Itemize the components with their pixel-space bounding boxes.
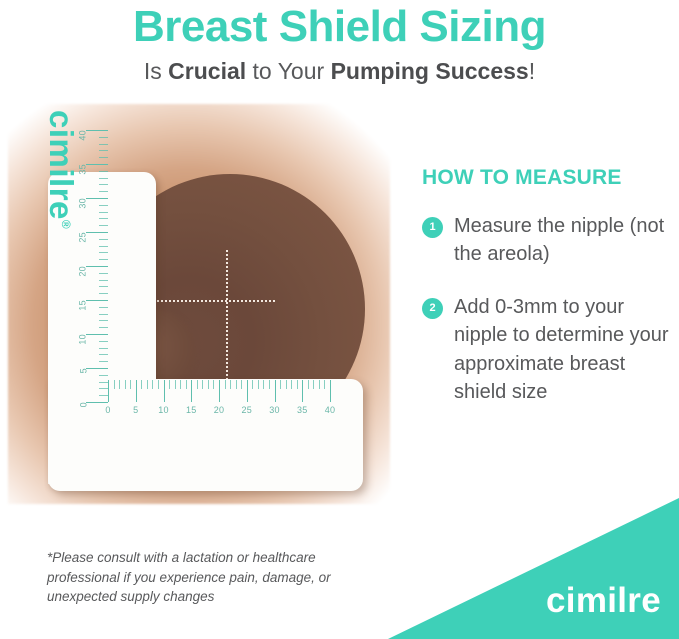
subtitle-part-2: to Your — [246, 58, 330, 84]
ruler-tick-label: 5 — [133, 405, 138, 415]
ruler-tick — [280, 380, 281, 389]
ruler-tick-label: 20 — [78, 266, 88, 277]
vertical-ruler-scale: 0510152025303540 — [56, 104, 108, 416]
ruler-tick — [180, 380, 181, 389]
ruler-tick — [302, 380, 303, 402]
ruler-tick — [99, 252, 108, 253]
ruler-tick-label: 30 — [78, 198, 88, 209]
horizontal-ruler-scale: 0510152025303540 — [108, 380, 338, 428]
ruler-tick — [99, 348, 108, 349]
measure-step-1: 1 Measure the nipple (not the areola) — [422, 212, 672, 269]
ruler-tick — [86, 266, 108, 267]
step-text: Add 0-3mm to your nipple to determine yo… — [454, 293, 672, 407]
subtitle-part-1: Crucial — [168, 58, 246, 84]
ruler-tick-label: 0 — [78, 402, 88, 407]
ruler-tick-label: 40 — [78, 130, 88, 141]
ruler-tick — [241, 380, 242, 389]
ruler-tick — [99, 150, 108, 151]
ruler-tick — [99, 239, 108, 240]
ruler-tick — [99, 388, 108, 389]
ruler-tick — [99, 395, 108, 396]
ruler-tick — [99, 225, 108, 226]
ruler-tick — [99, 307, 108, 308]
ruler-tick — [99, 171, 108, 172]
measurement-illustration: cimilre® 0510152025303540 05101520253035… — [0, 104, 410, 524]
ruler-tick — [208, 380, 209, 389]
ruler-tick — [191, 380, 192, 402]
ruler-tick — [286, 380, 287, 389]
ruler-tick — [308, 380, 309, 389]
ruler-tick — [99, 259, 108, 260]
ruler-tick — [86, 334, 108, 335]
ruler-tick — [99, 137, 108, 138]
ruler-tick — [99, 191, 108, 192]
ruler-tick — [86, 232, 108, 233]
ruler-tick — [263, 380, 264, 389]
ruler-tick — [313, 380, 314, 389]
step-text: Measure the nipple (not the areola) — [454, 212, 672, 269]
page-title: Breast Shield Sizing — [0, 0, 679, 50]
ruler-tick — [130, 380, 131, 389]
subtitle-part-0: Is — [144, 58, 168, 84]
ruler-tick — [330, 380, 331, 402]
ruler-tick — [114, 380, 115, 389]
ruler-tick — [86, 130, 108, 131]
ruler-tick-label: 40 — [325, 405, 336, 415]
measure-step-2: 2 Add 0-3mm to your nipple to determine … — [422, 293, 672, 407]
ruler-tick — [275, 380, 276, 402]
ruler-tick — [99, 354, 108, 355]
ruler-tick — [86, 198, 108, 199]
ruler-tick — [99, 246, 108, 247]
ruler-tick — [152, 380, 153, 389]
ruler-tick — [99, 341, 108, 342]
ruler-tick-label: 30 — [269, 405, 280, 415]
ruler-tick — [236, 380, 237, 389]
ruler-tick-label: 0 — [105, 405, 110, 415]
ruler-tick — [99, 218, 108, 219]
crosshair-vertical-guide — [226, 250, 228, 392]
ruler-tick — [86, 402, 108, 403]
ruler-tick — [99, 144, 108, 145]
ruler-tick — [169, 380, 170, 389]
ruler-tick-label: 35 — [297, 405, 308, 415]
ruler-tick — [99, 184, 108, 185]
ruler-tick — [119, 380, 120, 389]
ruler-tick — [86, 164, 108, 165]
ruler-tick-label: 20 — [214, 405, 225, 415]
ruler-tick — [99, 314, 108, 315]
ruler-tick — [141, 380, 142, 389]
ruler-tick-label: 35 — [78, 164, 88, 175]
ruler-tick — [219, 380, 220, 402]
step-number-badge: 1 — [422, 217, 443, 238]
ruler-tick — [252, 380, 253, 389]
ruler-tick — [247, 380, 248, 402]
ruler-tick — [324, 380, 325, 389]
ruler-tick — [147, 380, 148, 389]
ruler-tick-label: 25 — [78, 232, 88, 243]
ruler-tick — [164, 380, 165, 402]
subtitle-part-4: ! — [529, 58, 535, 84]
ruler-tick — [230, 380, 231, 389]
step-number-badge: 2 — [422, 298, 443, 319]
ruler-tick-label: 25 — [241, 405, 252, 415]
ruler-tick-label: 10 — [158, 405, 169, 415]
page-subtitle: Is Crucial to Your Pumping Success! — [0, 50, 679, 86]
footer-brand-logo: cimilre — [546, 581, 661, 621]
ruler-tick — [99, 212, 108, 213]
ruler-tick — [99, 361, 108, 362]
ruler-tick — [258, 380, 259, 389]
ruler-tick — [158, 380, 159, 389]
ruler-tick — [99, 327, 108, 328]
ruler-tick — [99, 205, 108, 206]
ruler-tick — [202, 380, 203, 389]
ruler-tick — [197, 380, 198, 389]
ruler-tick-label: 15 — [78, 300, 88, 311]
ruler-tick — [99, 293, 108, 294]
header: Breast Shield Sizing Is Crucial to Your … — [0, 0, 679, 86]
ruler-tick — [99, 273, 108, 274]
ruler-tick — [99, 320, 108, 321]
ruler-tick — [186, 380, 187, 389]
ruler-tick — [86, 300, 108, 301]
ruler-tick — [291, 380, 292, 389]
ruler-tick — [99, 157, 108, 158]
ruler-tick-label: 15 — [186, 405, 197, 415]
ruler-tick — [99, 286, 108, 287]
how-to-measure-heading: HOW TO MEASURE — [422, 166, 672, 190]
ruler-tick — [108, 380, 109, 402]
ruler-tick — [99, 178, 108, 179]
ruler-tick — [125, 380, 126, 389]
infographic-page: Breast Shield Sizing Is Crucial to Your … — [0, 0, 679, 639]
ruler-tick — [319, 380, 320, 389]
ruler-tick — [99, 375, 108, 376]
ruler-tick — [99, 280, 108, 281]
ruler-tick — [269, 380, 270, 389]
ruler-tick — [99, 382, 108, 383]
ruler-tick — [225, 380, 226, 389]
ruler-tick-label: 10 — [78, 334, 88, 345]
ruler-tick — [136, 380, 137, 402]
how-to-measure-section: HOW TO MEASURE 1 Measure the nipple (not… — [422, 166, 672, 430]
subtitle-part-3: Pumping Success — [331, 58, 529, 84]
ruler-tick — [86, 368, 108, 369]
disclaimer-footnote: *Please consult with a lactation or heal… — [47, 548, 377, 607]
ruler-tick — [297, 380, 298, 389]
ruler-tick — [213, 380, 214, 389]
ruler-tick-label: 5 — [78, 368, 88, 373]
ruler-tick — [175, 380, 176, 389]
